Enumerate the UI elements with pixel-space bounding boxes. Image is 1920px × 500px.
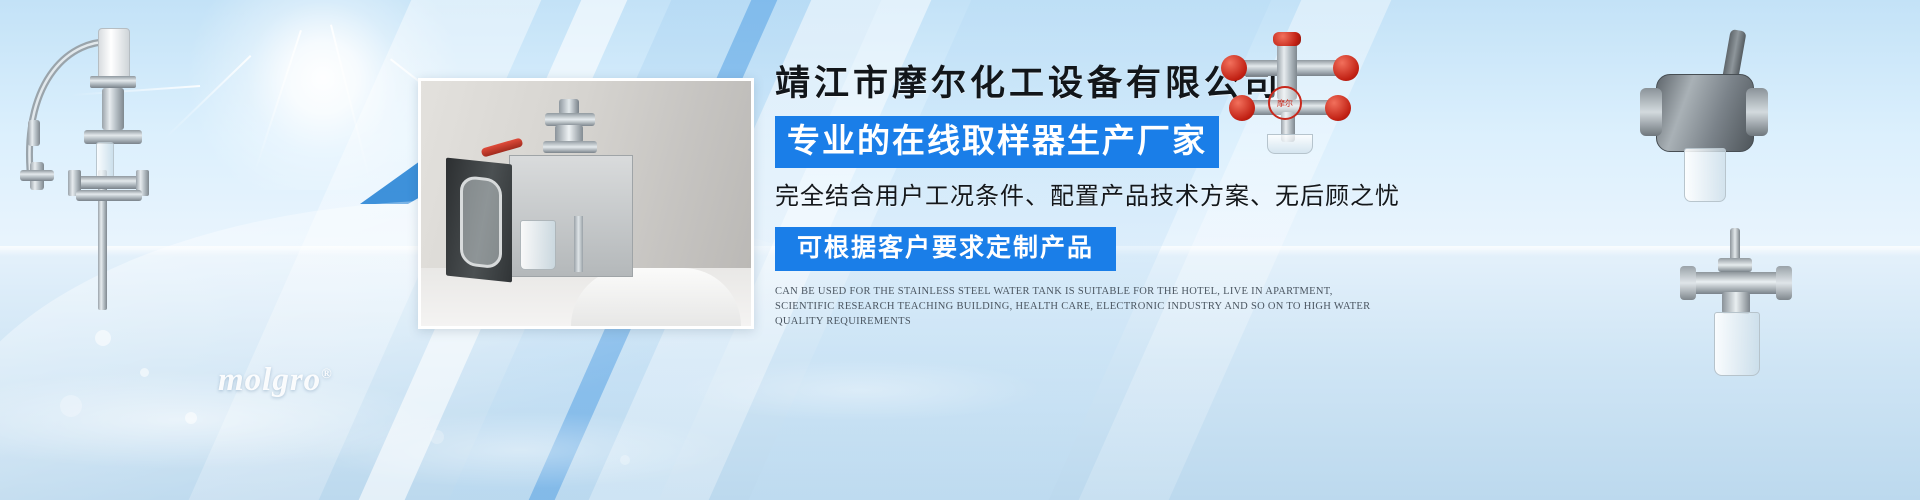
glass-cup-icon [1267,134,1313,154]
product-image-valve-body [1640,30,1770,210]
red-handwheel-icon [1325,95,1351,121]
red-handwheel-icon [1221,55,1247,81]
product-image-left [10,20,170,310]
water-drop-icon [185,412,197,424]
valve-crossbar-icon [1686,272,1786,294]
water-drop-icon [430,430,444,444]
custom-product-badge: 可根据客户要求定制产品 [775,227,1116,271]
photo-valve-head [541,99,599,157]
red-handwheel-icon [1333,55,1359,81]
valve-body-shell [1656,74,1754,152]
sample-bottle-icon [1714,312,1760,376]
registered-mark-icon: ® [321,367,332,382]
valve-flange-icon [1640,88,1662,136]
headline-badge: 专业的在线取样器生产厂家 [775,116,1219,168]
water-drop-icon [620,455,630,465]
sun-ray-icon [254,30,302,173]
photo-sample-bottle [520,220,556,270]
valve-outlet-icon [1722,292,1750,314]
valve-nut-icon [1718,258,1752,272]
sample-bottle-icon [1684,148,1726,202]
water-drop-icon [60,395,82,417]
photo-cabinet-body [509,155,633,277]
water-drop-icon [0,300,1100,500]
red-handwheel-icon [1273,32,1301,46]
company-seal-icon: 摩尔 [1268,86,1302,120]
red-handwheel-icon [1229,95,1255,121]
sun-ray-icon [164,55,252,140]
product-image-sampling-valve [1680,228,1800,388]
watermark-logo: molgro® [218,362,333,399]
product-photo-sampler-cabinet [418,78,754,329]
photo-drain-tube [574,216,583,272]
photo-cabinet-door [446,158,512,283]
valve-flange-icon [1746,88,1768,136]
valve-flange-icon [1776,266,1792,300]
watermark-text: molgro [218,362,321,398]
photo-door-window [460,175,502,269]
promo-banner: 靖江市摩尔化工设备有限公司 专业的在线取样器生产厂家 完全结合用户工况条件、配置… [0,0,1920,500]
water-drop-icon [95,330,111,346]
water-drop-icon [140,368,149,377]
valve-flange-icon [1680,266,1696,300]
subtitle-text: 完全结合用户工况条件、配置产品技术方案、无后顾之忧 [775,180,1395,214]
sun-ray-icon [330,25,371,181]
english-caption: CAN BE USED FOR THE STAINLESS STEEL WATE… [775,284,1375,329]
